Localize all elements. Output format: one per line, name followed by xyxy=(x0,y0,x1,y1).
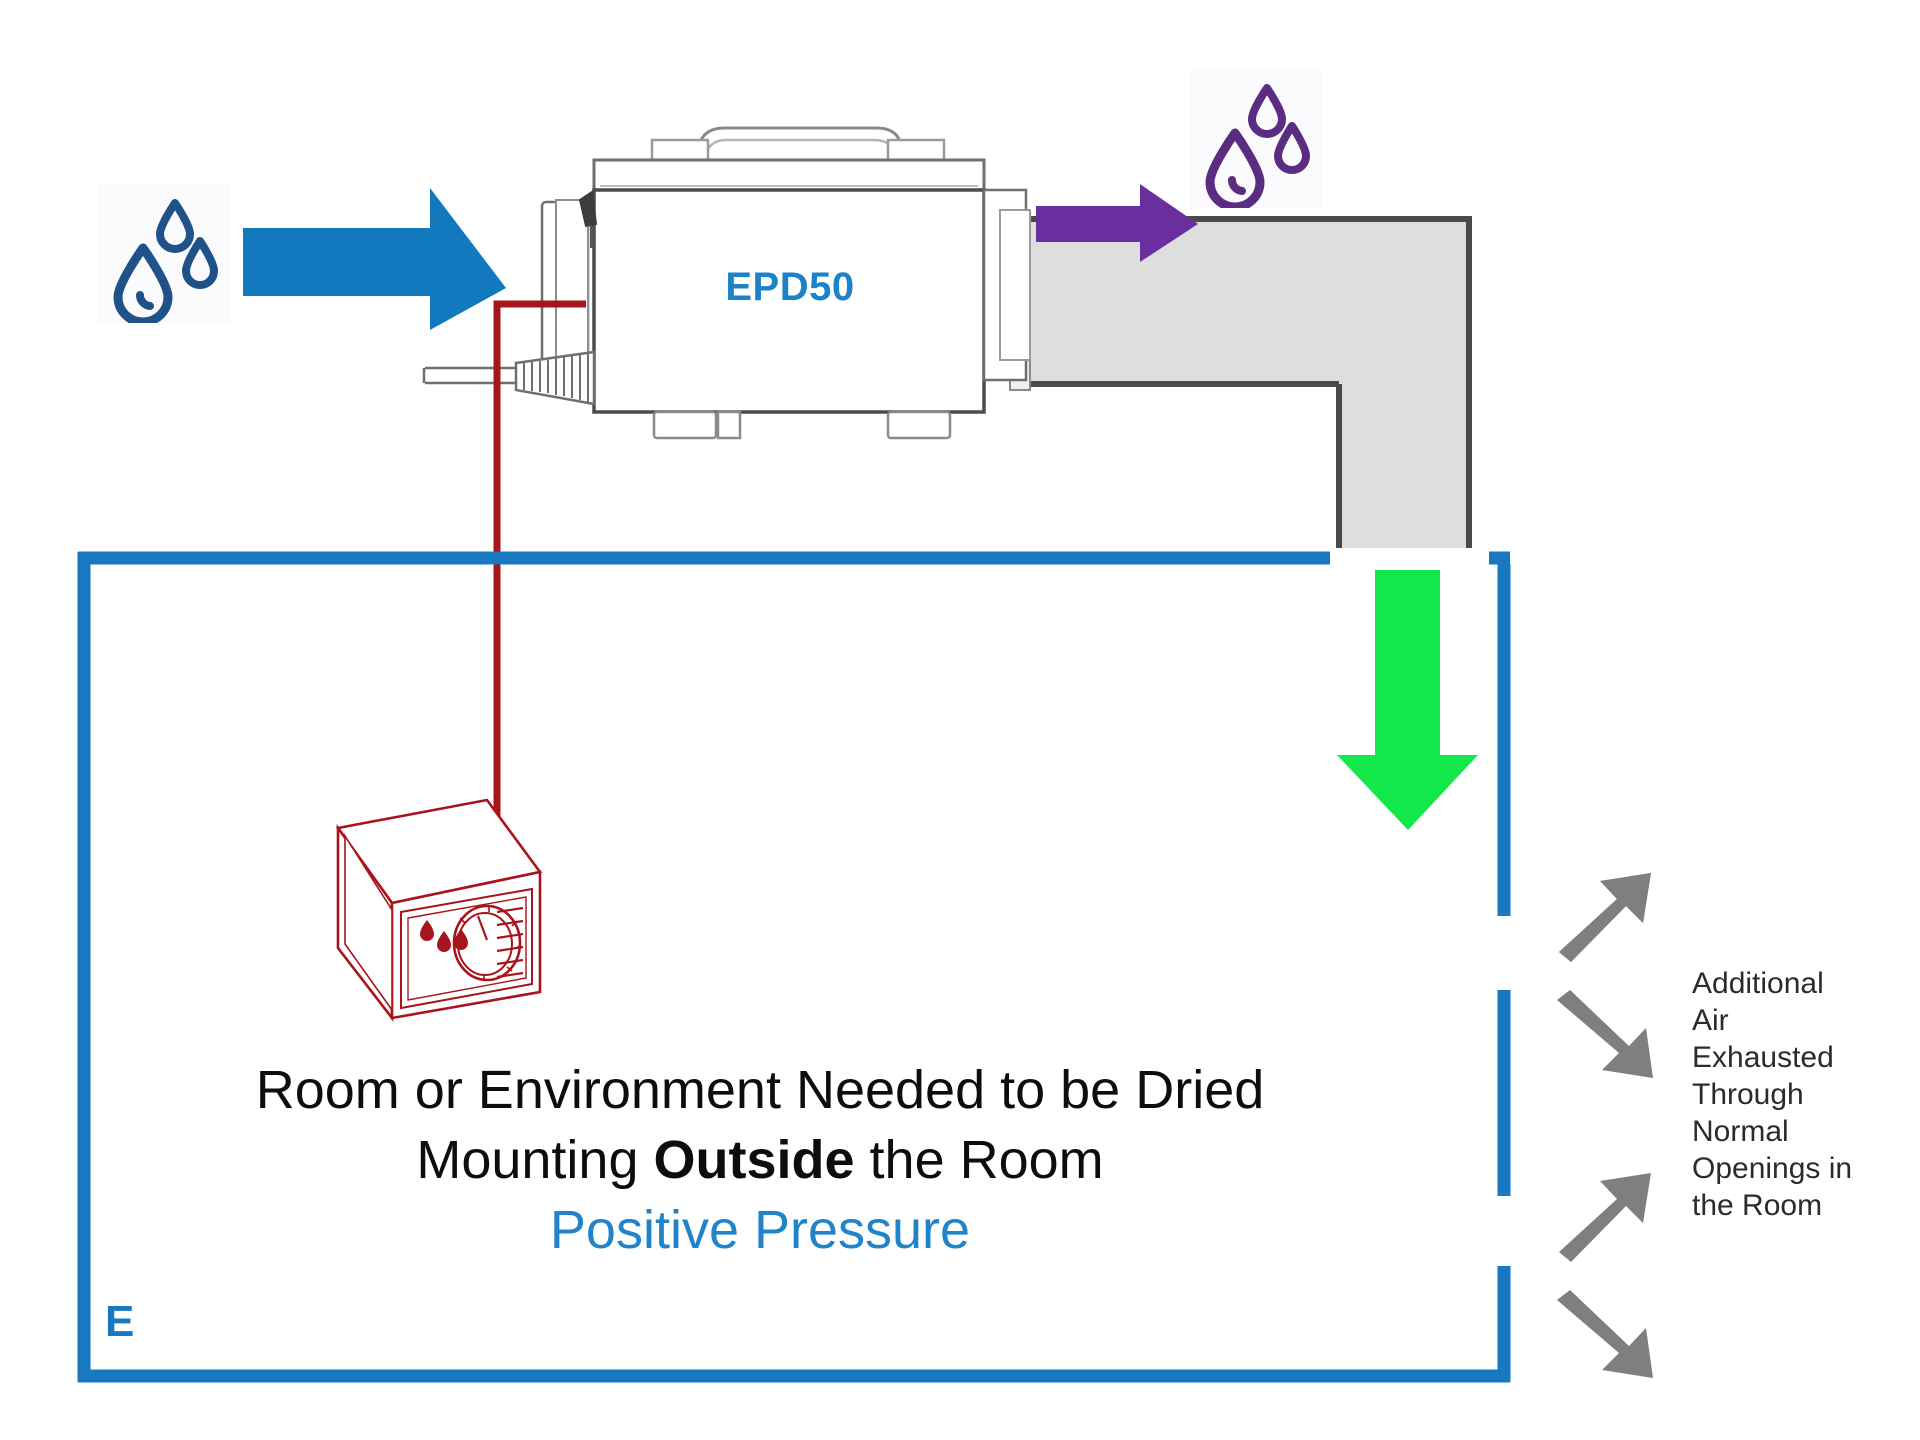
exhaust-note-line: the Room xyxy=(1692,1187,1902,1224)
moisture-out-icon-tile xyxy=(1190,68,1322,208)
caption-line-2-pre: Mounting xyxy=(416,1130,653,1190)
water-droplets-icon xyxy=(1190,68,1322,208)
grey-double-arrow-icon xyxy=(1557,873,1653,1378)
green-down-arrow-icon xyxy=(1337,570,1478,830)
caption-line-2-bold: Outside xyxy=(654,1130,855,1190)
exhaust-note-line: Additional xyxy=(1692,965,1902,1002)
unit-label: EPD50 xyxy=(660,265,920,310)
blue-right-arrow-icon xyxy=(243,188,506,330)
exhaust-note-line: Air xyxy=(1692,1002,1902,1039)
humidistat-device-icon xyxy=(338,800,540,1018)
room-caption: Room or Environment Needed to be Dried M… xyxy=(80,1055,1440,1265)
diagram-canvas: EPD50 Room or Environment Needed to be D… xyxy=(0,0,1920,1440)
water-droplets-icon xyxy=(98,183,230,323)
duct-icon xyxy=(1010,215,1472,548)
caption-line-2: Mounting Outside the Room xyxy=(80,1125,1440,1195)
exhaust-note: Additional Air Exhausted Through Normal … xyxy=(1692,965,1902,1224)
caption-line-2-post: the Room xyxy=(855,1130,1104,1190)
caption-line-1: Room or Environment Needed to be Dried xyxy=(256,1060,1265,1120)
humid-air-icon-tile xyxy=(98,183,230,323)
exhaust-note-line: Normal xyxy=(1692,1113,1902,1150)
caption-positive-pressure: Positive Pressure xyxy=(80,1195,1440,1265)
exhaust-note-line: Openings in xyxy=(1692,1150,1902,1187)
exhaust-note-line: Exhausted xyxy=(1692,1039,1902,1076)
exhaust-note-line: Through xyxy=(1692,1076,1902,1113)
drain-hose-icon xyxy=(424,352,594,404)
room-marker-label: E xyxy=(105,1300,134,1344)
